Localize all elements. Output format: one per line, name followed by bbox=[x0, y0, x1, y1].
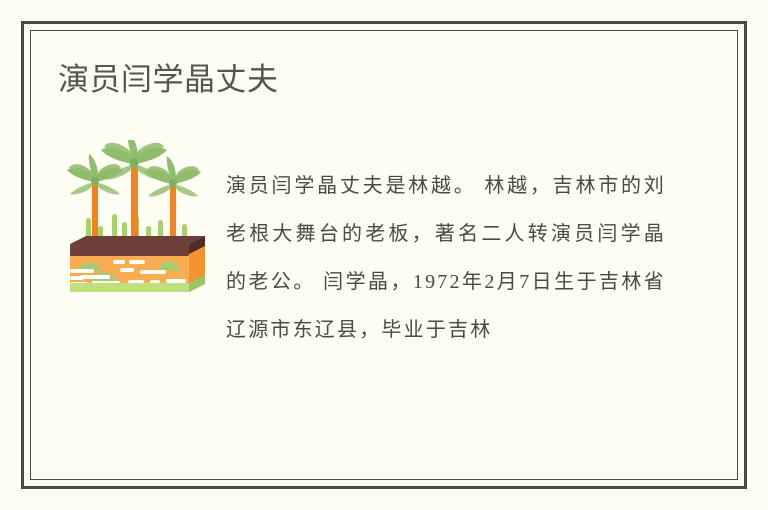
article-body-text: 演员闫学晶丈夫是林越。 林越，吉林市的刘老根大舞台的老板，著名二人转演员闫学晶的… bbox=[226, 162, 666, 354]
document-page: 演员闫学晶丈夫 bbox=[0, 0, 768, 510]
palm-trees-oasis-icon bbox=[58, 140, 213, 300]
document-content: 演员闫学晶丈夫 bbox=[30, 30, 738, 480]
page-title: 演员闫学晶丈夫 bbox=[58, 58, 279, 102]
